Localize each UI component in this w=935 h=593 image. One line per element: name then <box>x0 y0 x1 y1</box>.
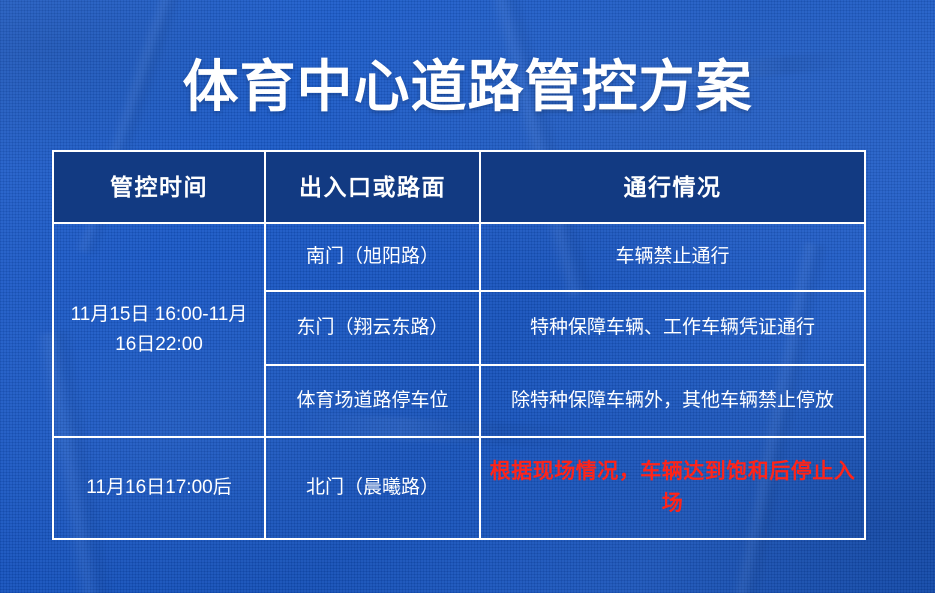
cell-condition-alert: 根据现场情况，车辆达到饱和后停止入场 <box>481 438 864 538</box>
page-title: 体育中心道路管控方案 <box>0 53 935 121</box>
cell-gate: 北门（晨曦路） <box>266 438 481 538</box>
table-header-row: 管控时间 出入口或路面 通行情况 <box>54 152 864 224</box>
cell-gate: 东门（翔云东路） <box>266 292 481 366</box>
cell-control-time: 11月15日 16:00-11月16日22:00 <box>54 224 266 438</box>
table-group-first-period: 11月15日 16:00-11月16日22:00 南门（旭阳路） 车辆禁止通行 … <box>54 224 864 438</box>
column-header-time: 管控时间 <box>54 152 266 224</box>
cell-condition: 车辆禁止通行 <box>481 224 864 292</box>
cell-control-time: 11月16日17:00后 <box>54 438 266 538</box>
table-row: 体育场道路停车位 除特种保障车辆外，其他车辆禁止停放 <box>266 366 864 438</box>
table-row: 南门（旭阳路） 车辆禁止通行 <box>266 224 864 292</box>
cell-gate: 体育场道路停车位 <box>266 366 481 438</box>
table-row: 11月16日17:00后 北门（晨曦路） 根据现场情况，车辆达到饱和后停止入场 <box>54 438 864 538</box>
column-header-condition: 通行情况 <box>481 152 864 224</box>
road-control-table: 管控时间 出入口或路面 通行情况 11月15日 16:00-11月16日22:0… <box>52 150 866 540</box>
table-row: 东门（翔云东路） 特种保障车辆、工作车辆凭证通行 <box>266 292 864 366</box>
cell-condition: 除特种保障车辆外，其他车辆禁止停放 <box>481 366 864 438</box>
cell-gate: 南门（旭阳路） <box>266 224 481 292</box>
table-group-rows: 南门（旭阳路） 车辆禁止通行 东门（翔云东路） 特种保障车辆、工作车辆凭证通行 … <box>266 224 864 438</box>
column-header-gate: 出入口或路面 <box>266 152 481 224</box>
cell-condition: 特种保障车辆、工作车辆凭证通行 <box>481 292 864 366</box>
poster-canvas: 体育中心道路管控方案 管控时间 出入口或路面 通行情况 11月15日 16:00… <box>0 0 935 593</box>
